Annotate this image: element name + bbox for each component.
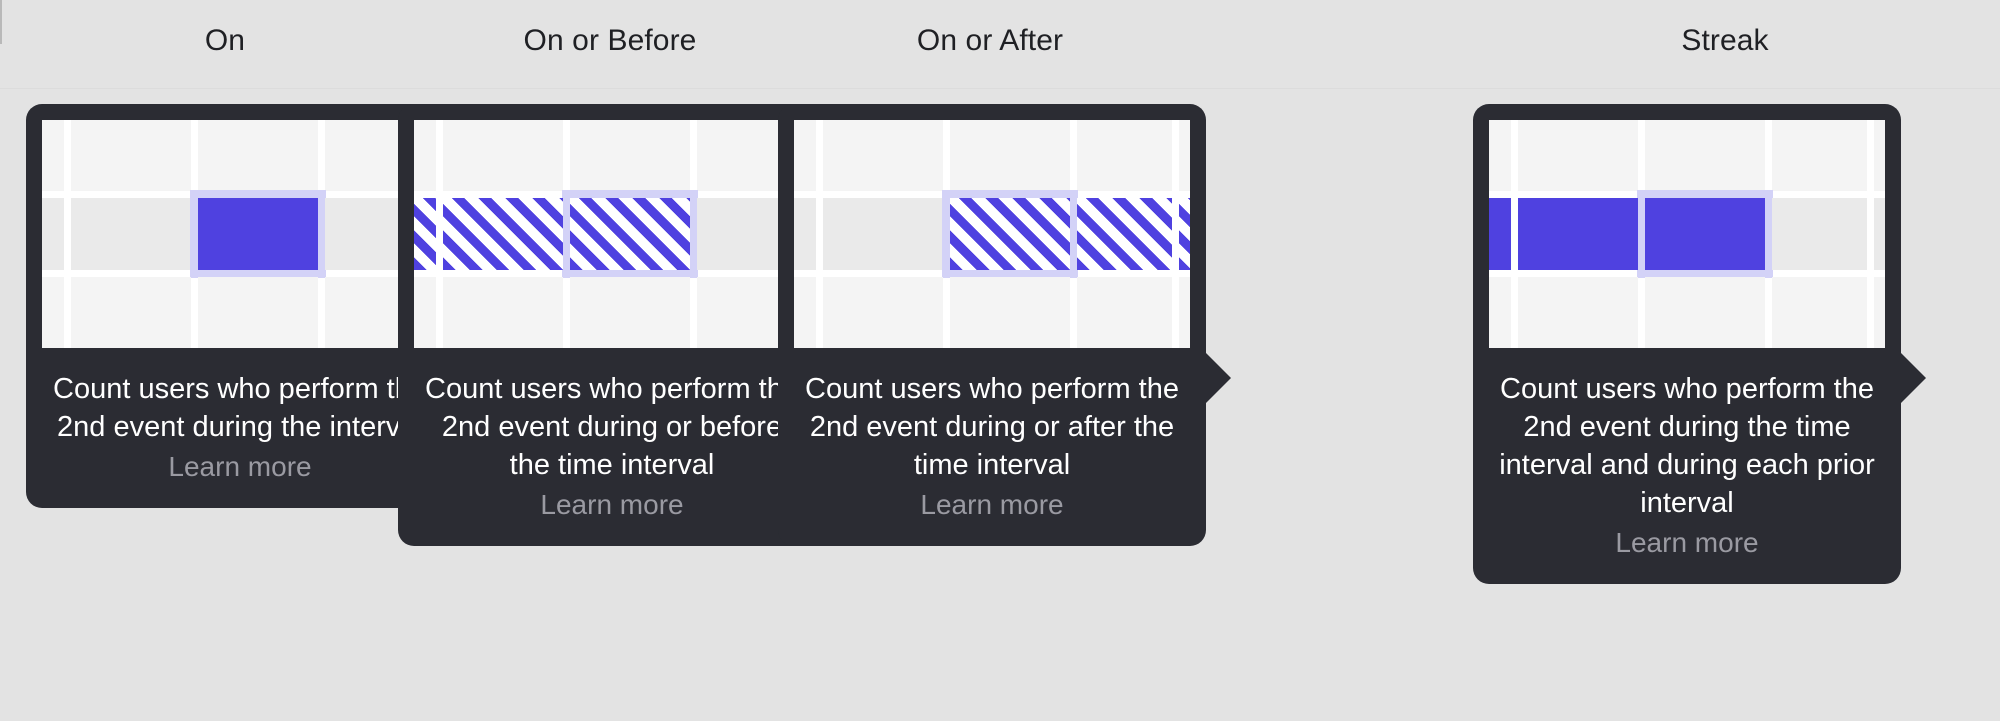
- grid-cell: [794, 198, 816, 270]
- grid-cell: [823, 120, 943, 191]
- card-description-on-or-after: Count users who perform the 2nd event du…: [794, 348, 1190, 484]
- grid-cell: [1772, 277, 1867, 348]
- grid-cell: [1772, 198, 1867, 270]
- grid-cell: [1645, 277, 1765, 348]
- grid-row-bottom: [414, 277, 810, 348]
- grid-cell: [42, 198, 64, 270]
- learn-more-link-on-or-after[interactable]: Learn more: [794, 484, 1190, 524]
- grid-cell: [1874, 120, 1885, 191]
- card-arrow-icon: [1900, 352, 1926, 404]
- grid-row-top: [414, 120, 810, 191]
- diagram-on-or-after: [794, 120, 1190, 348]
- event-bar-hatch: [414, 198, 436, 270]
- grid-cell: [1874, 198, 1885, 270]
- grid-cell-active: [198, 198, 318, 270]
- grid-row-top: [1489, 120, 1885, 191]
- grid-cell: [1179, 120, 1190, 191]
- grid-cell: [1077, 277, 1172, 348]
- diagram-on: [42, 120, 438, 348]
- learn-more-link-on-or-before[interactable]: Learn more: [414, 484, 810, 524]
- grid-row-bottom: [1489, 277, 1885, 348]
- grid-cell-active: [1077, 198, 1172, 270]
- learn-more-link-on[interactable]: Learn more: [42, 446, 438, 486]
- grid-row-top: [794, 120, 1190, 191]
- event-bar-hatch: [443, 198, 563, 270]
- grid-cell-active: [414, 198, 436, 270]
- grid-cell: [443, 277, 563, 348]
- event-bar-solid: [1489, 198, 1511, 270]
- card-streak[interactable]: Count users who perform the 2nd event du…: [1473, 104, 1901, 584]
- grid-row-middle: [414, 198, 810, 270]
- grid-cell: [42, 277, 64, 348]
- grid-cell: [443, 120, 563, 191]
- grid-cell: [1645, 120, 1765, 191]
- grid-cell: [1077, 120, 1172, 191]
- event-bar-solid: [1645, 198, 1765, 270]
- column-title-on-or-after: On or After: [745, 0, 1235, 58]
- grid-cell: [198, 277, 318, 348]
- grid-cell-active: [443, 198, 563, 270]
- column-on-or-after: On or After: [745, 0, 1235, 58]
- grid-cell: [570, 120, 690, 191]
- grid-cell: [71, 120, 191, 191]
- diagram-streak: [1489, 120, 1885, 348]
- event-bar-solid: [198, 198, 318, 270]
- grid-cell: [71, 198, 191, 270]
- grid-cell-active: [1645, 198, 1765, 270]
- diagram-on-or-before: [414, 120, 810, 348]
- grid-cell: [794, 120, 816, 191]
- grid-cell: [1518, 120, 1638, 191]
- conversion-window-options-board: On: [0, 0, 2000, 721]
- column-title-streak: Streak: [1480, 0, 1970, 58]
- grid-cell-active: [1518, 198, 1638, 270]
- card-description-on-or-before: Count users who perform the 2nd event du…: [414, 348, 810, 484]
- grid-cell-active: [1179, 198, 1190, 270]
- card-on-or-after[interactable]: Count users who perform the 2nd event du…: [778, 104, 1206, 546]
- grid-cell: [1772, 120, 1867, 191]
- event-bar-solid: [1518, 198, 1638, 270]
- card-arrow-icon: [1205, 352, 1231, 404]
- grid-cell: [1179, 277, 1190, 348]
- card-on-or-before[interactable]: Count users who perform the 2nd event du…: [398, 104, 826, 546]
- card-description-streak: Count users who perform the 2nd event du…: [1489, 348, 1885, 522]
- grid-row-middle: [1489, 198, 1885, 270]
- grid-cell: [950, 120, 1070, 191]
- grid-row-bottom: [794, 277, 1190, 348]
- grid-cell: [42, 120, 64, 191]
- grid-cell: [198, 120, 318, 191]
- grid-cell-active: [1489, 198, 1511, 270]
- grid-row-bottom: [42, 277, 438, 348]
- grid-row-top: [42, 120, 438, 191]
- column-streak: Streak: [1480, 0, 1970, 58]
- grid-row-middle: [794, 198, 1190, 270]
- grid-cell: [823, 198, 943, 270]
- grid-cell: [414, 277, 436, 348]
- grid-cell: [1489, 120, 1511, 191]
- grid-row-middle: [42, 198, 438, 270]
- event-bar-hatch: [570, 198, 690, 270]
- grid-cell: [1518, 277, 1638, 348]
- grid-cell: [1489, 277, 1511, 348]
- grid-cell: [71, 277, 191, 348]
- grid-cell-active: [570, 198, 690, 270]
- grid-cell: [570, 277, 690, 348]
- grid-cell: [823, 277, 943, 348]
- grid-cell: [414, 120, 436, 191]
- grid-cell: [950, 277, 1070, 348]
- card-description-on: Count users who perform the 2nd event du…: [42, 348, 438, 446]
- event-bar-hatch: [1077, 198, 1172, 270]
- grid-cell: [794, 277, 816, 348]
- grid-cell-active: [950, 198, 1070, 270]
- event-bar-hatch: [1179, 198, 1190, 270]
- grid-cell: [1874, 277, 1885, 348]
- event-bar-hatch: [950, 198, 1070, 270]
- card-on[interactable]: Count users who perform the 2nd event du…: [26, 104, 454, 508]
- learn-more-link-streak[interactable]: Learn more: [1489, 522, 1885, 562]
